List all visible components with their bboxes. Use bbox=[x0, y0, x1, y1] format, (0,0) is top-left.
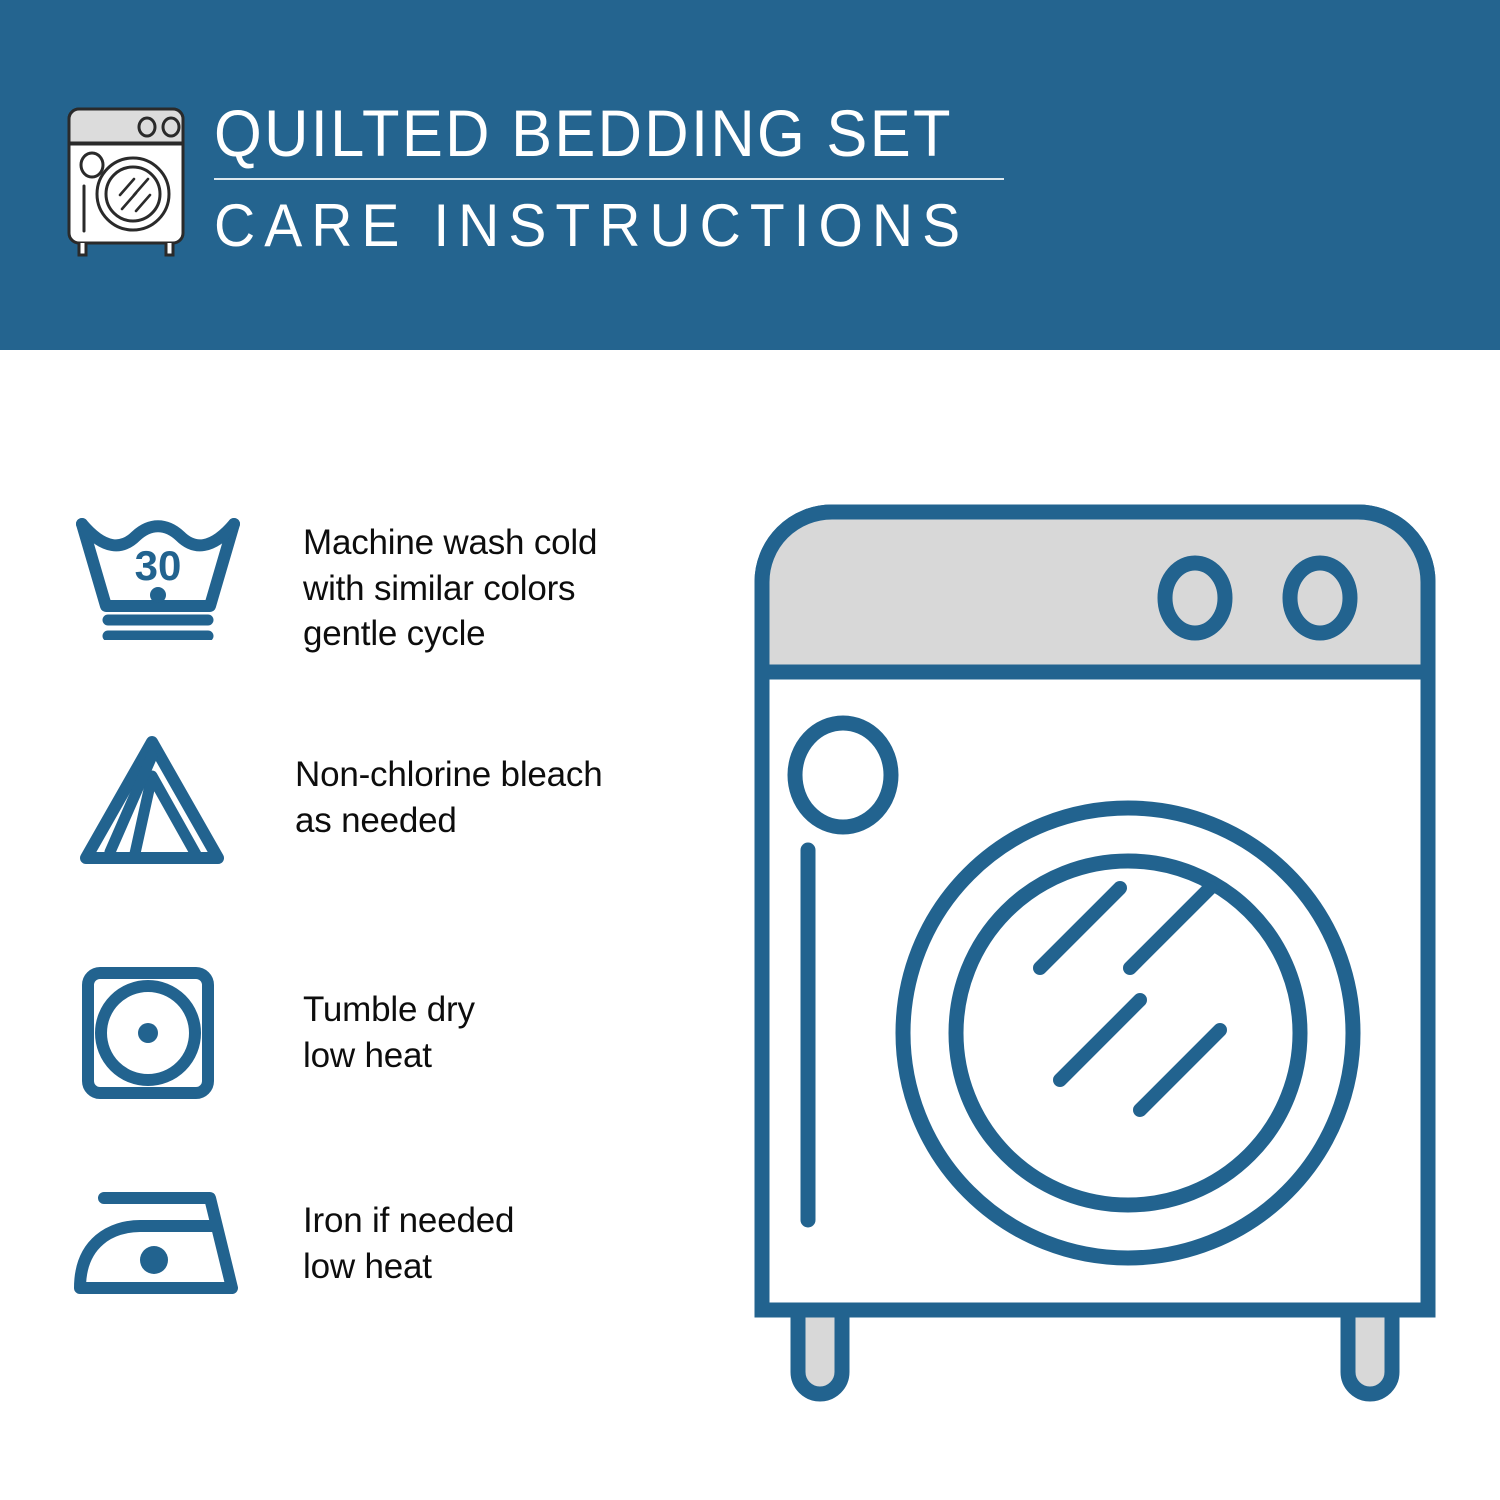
care-instruction-list: 30 Machine wash cold with similar colors… bbox=[0, 350, 720, 1500]
tumble-dry-icon bbox=[80, 965, 216, 1106]
care-item-iron: Iron if needed low heat bbox=[0, 1180, 720, 1340]
page-subtitle: CARE INSTRUCTIONS bbox=[214, 194, 984, 257]
care-item-bleach-label: Non-chlorine bleach as needed bbox=[295, 752, 603, 843]
care-line: Machine wash cold bbox=[303, 520, 597, 566]
care-line: as needed bbox=[295, 798, 603, 844]
leg-left bbox=[798, 1310, 842, 1394]
wash-tub-icon: 30 bbox=[70, 510, 246, 645]
wash-temperature-label: 30 bbox=[135, 542, 182, 589]
page-title: QUILTED BEDDING SET bbox=[214, 100, 967, 166]
care-item-wash: 30 Machine wash cold with similar colors… bbox=[0, 510, 720, 700]
knob-right bbox=[1290, 563, 1350, 633]
care-line: low heat bbox=[303, 1033, 475, 1079]
care-line: with similar colors bbox=[303, 566, 597, 612]
bleach-triangle-icon bbox=[72, 730, 232, 875]
detergent-dispenser bbox=[795, 723, 891, 827]
care-line: Iron if needed bbox=[303, 1198, 514, 1244]
care-line: Non-chlorine bleach bbox=[295, 752, 603, 798]
header-text-block: QUILTED BEDDING SET CARE INSTRUCTIONS bbox=[214, 100, 1024, 257]
washing-machine-illustration bbox=[740, 490, 1450, 1420]
care-item-wash-label: Machine wash cold with similar colors ge… bbox=[303, 520, 597, 657]
care-item-tumble-dry-label: Tumble dry low heat bbox=[303, 987, 475, 1078]
leg-right bbox=[1348, 1310, 1392, 1394]
care-instructions-infographic: QUILTED BEDDING SET CARE INSTRUCTIONS 3 bbox=[0, 0, 1500, 1500]
washing-machine-icon bbox=[62, 103, 190, 263]
care-item-tumble-dry: Tumble dry low heat bbox=[0, 965, 720, 1135]
care-line: low heat bbox=[303, 1244, 514, 1290]
knob-left bbox=[1165, 563, 1225, 633]
header-banner: QUILTED BEDDING SET CARE INSTRUCTIONS bbox=[0, 0, 1500, 350]
care-line: Tumble dry bbox=[303, 987, 475, 1033]
title-divider bbox=[214, 178, 1004, 180]
care-line: gentle cycle bbox=[303, 611, 597, 657]
care-item-iron-label: Iron if needed low heat bbox=[303, 1198, 514, 1289]
care-item-bleach: Non-chlorine bleach as needed bbox=[0, 730, 720, 900]
iron-icon bbox=[62, 1180, 258, 1305]
